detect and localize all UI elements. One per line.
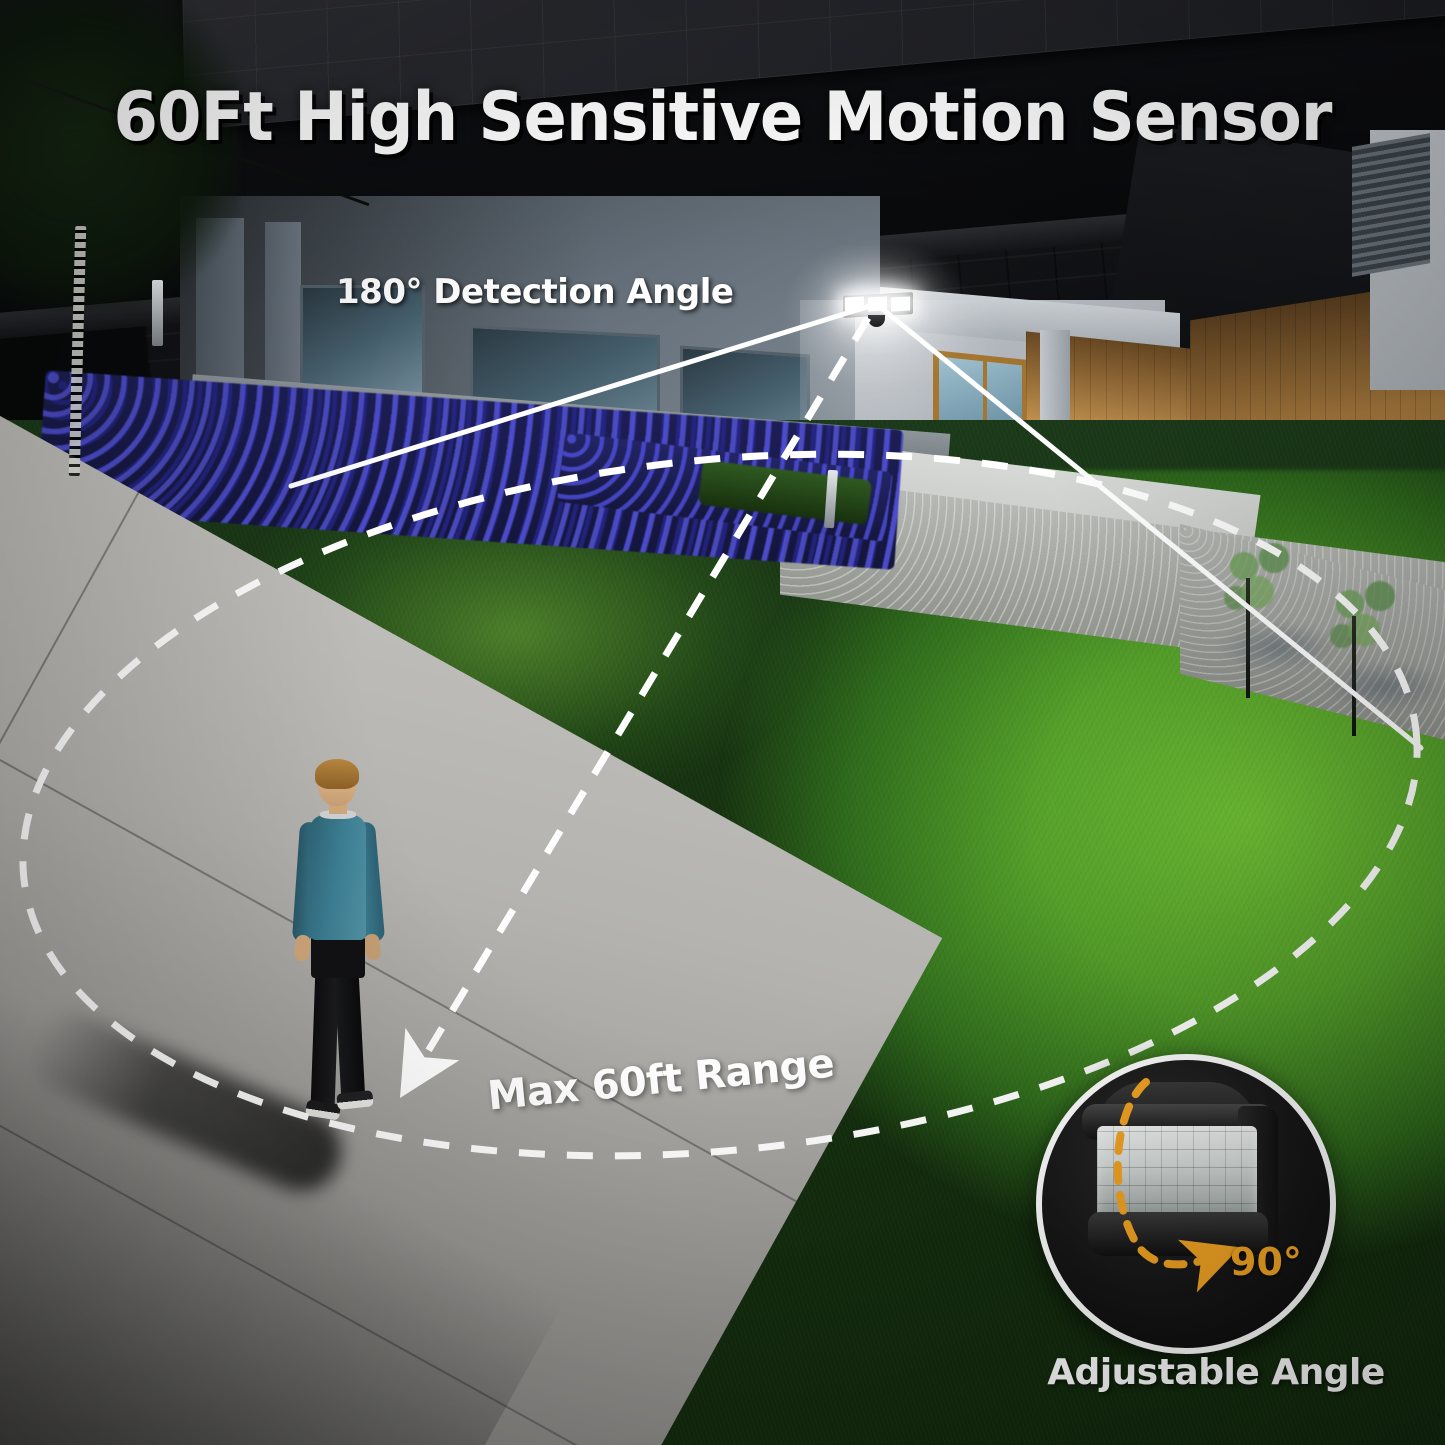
tilt-degrees-label: 90°	[1230, 1240, 1302, 1284]
detection-boundary-right	[880, 307, 1421, 748]
adjustable-angle-label: Adjustable Angle	[1026, 1352, 1406, 1393]
range-measure-arrow	[418, 318, 868, 1068]
page-title: 60Ft High Sensitive Motion Sensor	[43, 78, 1401, 157]
product-feature-image: 60Ft High Sensitive Motion Sensor 180° D…	[0, 0, 1445, 1445]
detection-angle-label: 180° Detection Angle	[336, 272, 733, 312]
tilt-arc-diagram	[1042, 1060, 1330, 1348]
adjustable-angle-inset: 90°	[1036, 1054, 1336, 1354]
tilt-arc	[1118, 1082, 1210, 1264]
